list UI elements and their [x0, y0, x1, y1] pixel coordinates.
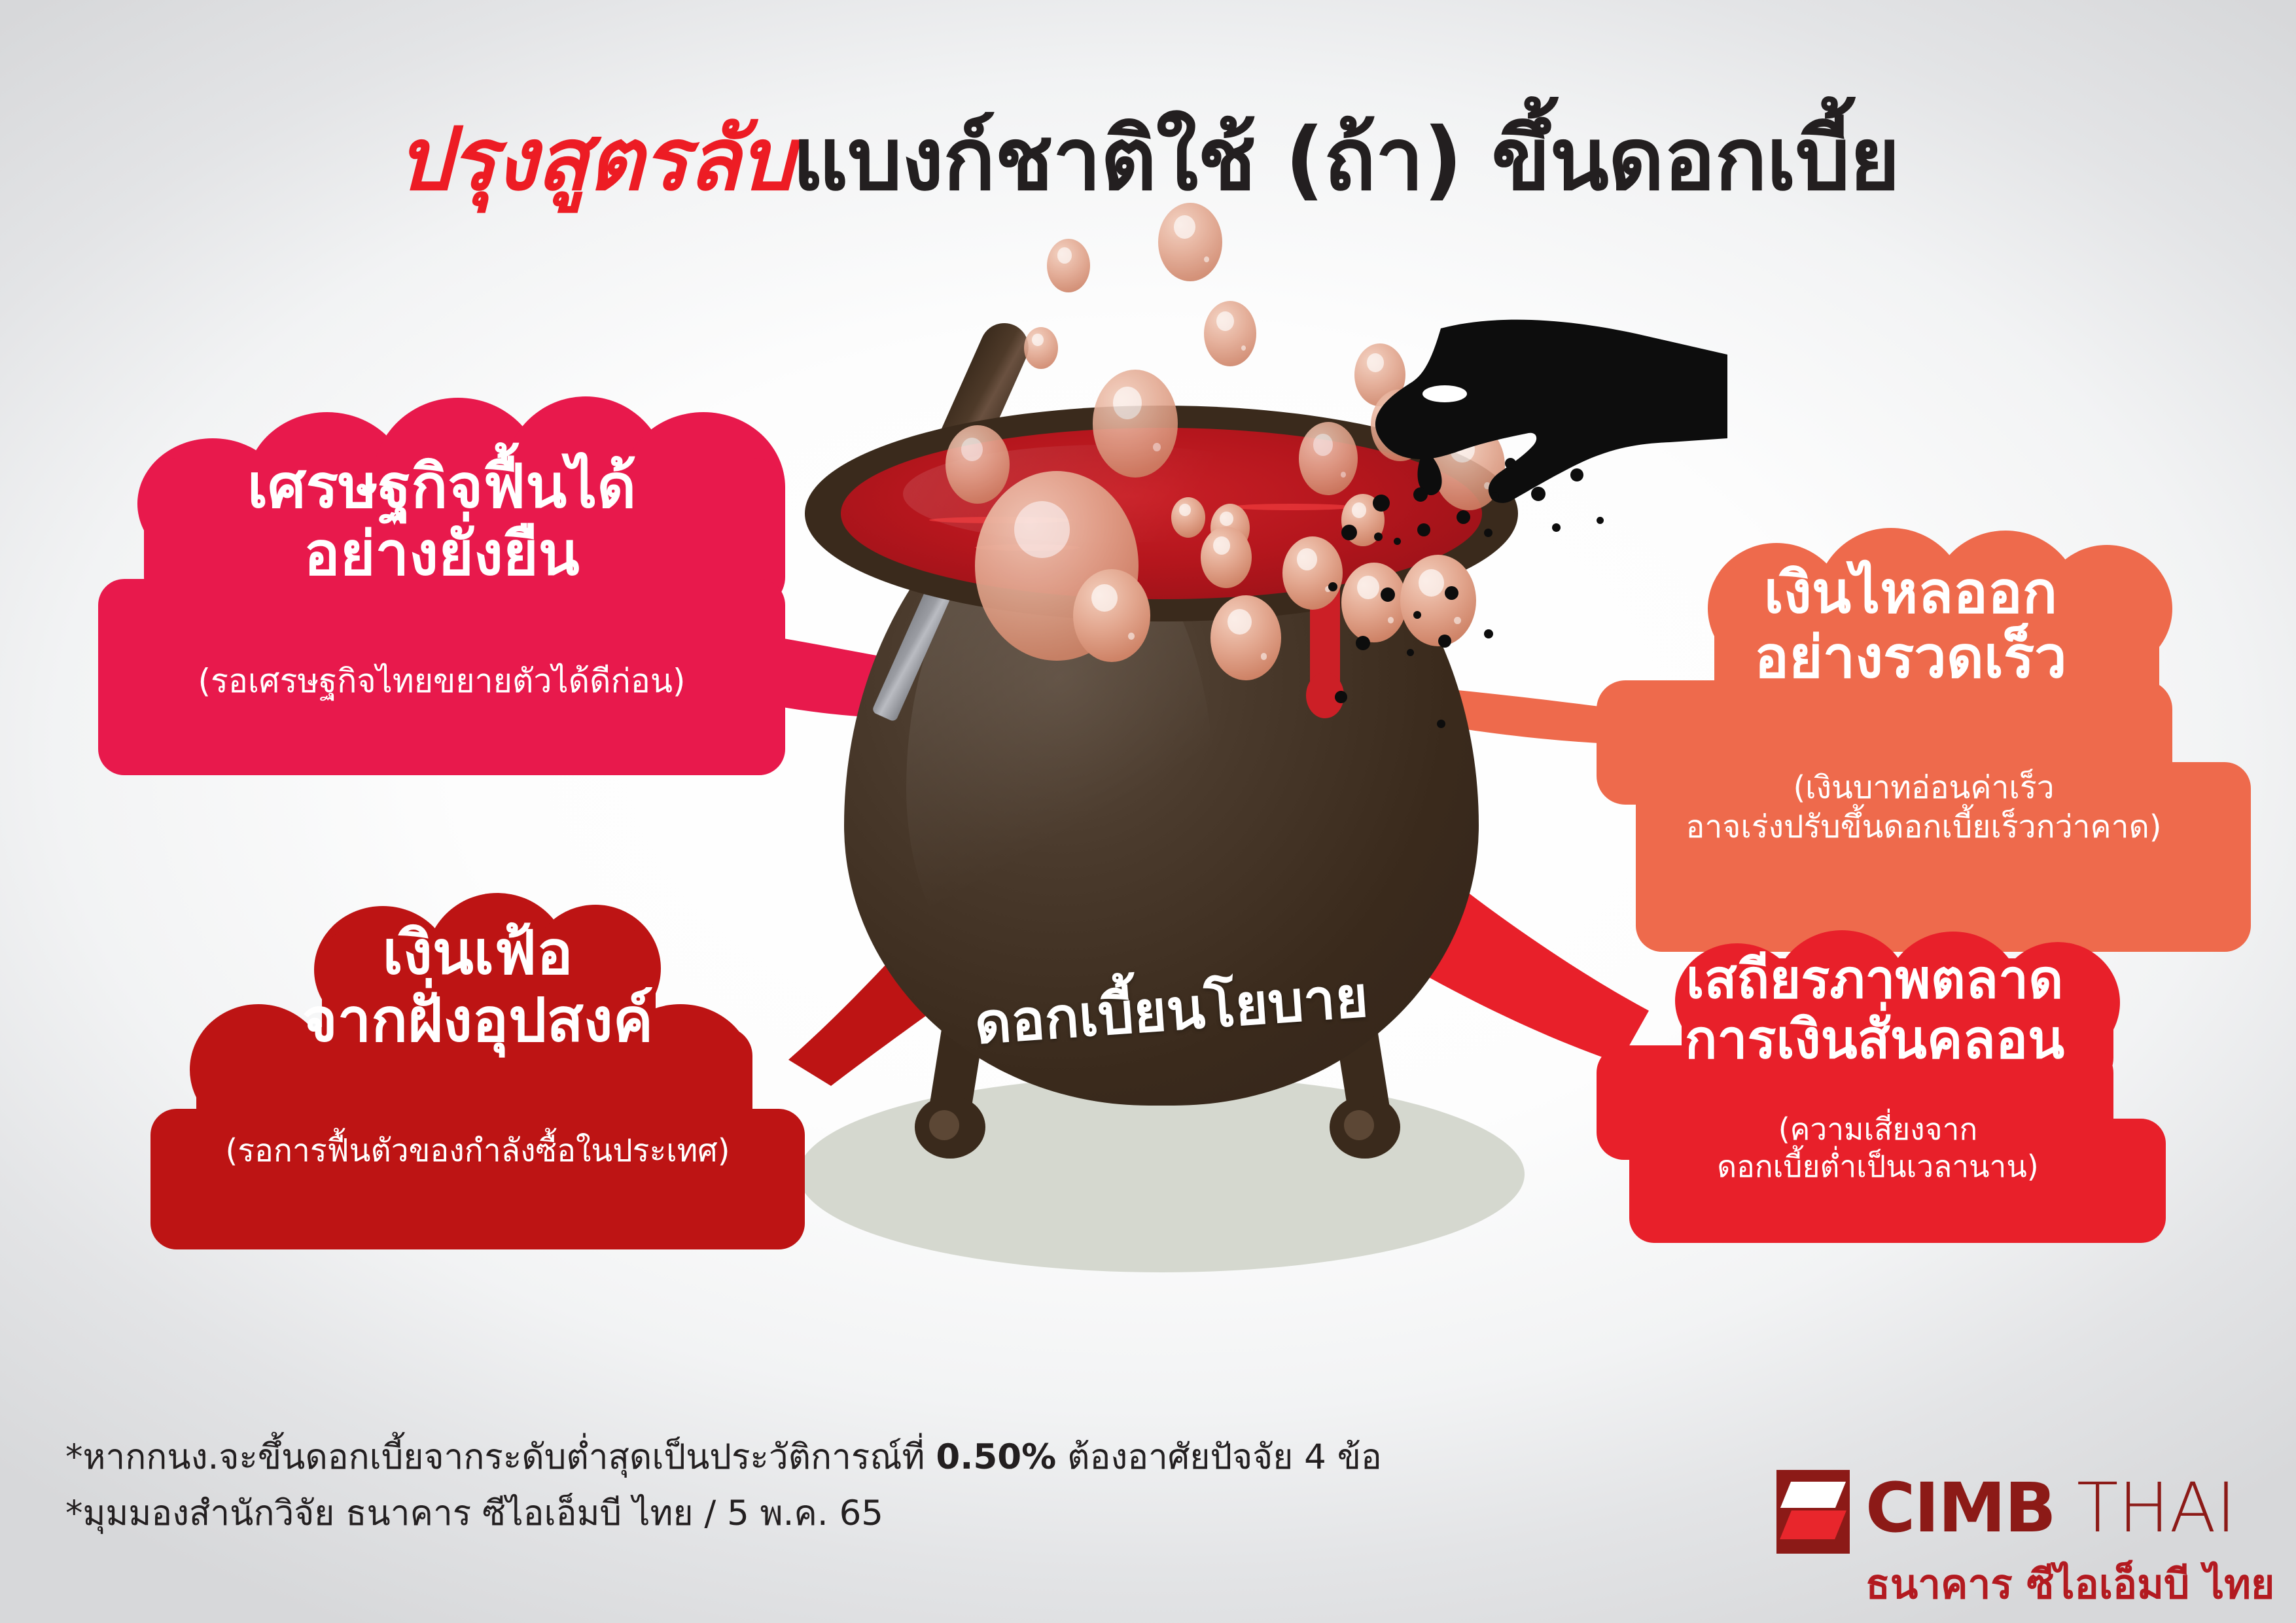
footnotes: *หากกนง.จะขึ้นดอกเบี้ยจากระดับต่ำสุดเป็น…	[65, 1429, 1570, 1542]
headline-line: เศรษฐกิจฟื้นได้	[98, 453, 785, 520]
callout-headline: เงินเฟ้อ จากฝั่งอุปสงค์	[150, 919, 805, 1054]
subtext-line: อาจเร่งปรับขึ้นดอกเบี้ยเร็วกว่าคาด)	[1616, 808, 2231, 847]
footnote-rate: 0.50%	[936, 1437, 1056, 1477]
logo-wordmark: CIMB THAI	[1865, 1474, 2236, 1542]
title-black-part: แบงก์ชาติใช้ (ถ้า) ขึ้นดอกเบี้ย	[792, 109, 1899, 210]
callout-subtext: (รอเศรษฐกิจไทยขยายตัวได้ดีก่อน)	[98, 661, 785, 701]
sprinkling-hand-icon	[1269, 314, 1727, 576]
footnote-line-2: *มุมมองสำนักวิจัย ธนาคาร ซีไอเอ็มบี ไทย …	[65, 1486, 1570, 1542]
callout-subtext: (ความเสี่ยงจาก ดอกเบี้ยต่ำเป็นเวลานาน)	[1610, 1111, 2146, 1185]
footnote-suffix: ต้องอาศัยปัจจัย 4 ข้อ	[1056, 1437, 1382, 1477]
bubble	[1210, 595, 1281, 680]
headline-line: เสถียรภาพตลาด	[1603, 950, 2146, 1010]
callout-subtext: (รอการฟื้นตัวของกำลังซื้อในประเทศ)	[150, 1132, 805, 1171]
pot-foot-left	[915, 1096, 985, 1159]
bubble	[1204, 301, 1256, 366]
bubble	[1201, 527, 1252, 588]
bubble	[945, 425, 1010, 504]
logo-brand-light: THAI	[2055, 1468, 2236, 1548]
subtext-line: (เงินบาทอ่อนค่าเร็ว	[1616, 769, 2231, 808]
page-title: ปรุงสูตรลับแบงก์ชาติใช้ (ถ้า) ขึ้นดอกเบี…	[0, 114, 2296, 205]
subtext-line: (รอเศรษฐกิจไทยขยายตัวได้ดีก่อน)	[98, 661, 785, 701]
footnote-line-1: *หากกนง.จะขึ้นดอกเบี้ยจากระดับต่ำสุดเป็น…	[65, 1429, 1570, 1486]
callout-headline: เงินไหลออก อย่างรวดเร็ว	[1603, 561, 2218, 689]
callout-subtext: (เงินบาทอ่อนค่าเร็ว อาจเร่งปรับขึ้นดอกเบ…	[1616, 769, 2231, 846]
cimb-thai-logo: CIMB THAI ธนาคาร ซีไอเอ็มบี ไทย	[1776, 1469, 2261, 1599]
callout-demand-inflation: เงินเฟ้อ จากฝั่งอุปสงค์ (รอการฟื้นตัวของ…	[150, 893, 831, 1246]
infographic-canvas: ปรุงสูตรลับแบงก์ชาติใช้ (ถ้า) ขึ้นดอกเบี…	[0, 0, 2296, 1623]
pot-shadow	[798, 1076, 1525, 1272]
headline-line: การเงินสั่นคลอน	[1603, 1010, 2146, 1070]
subtext-line: ดอกเบี้ยต่ำเป็นเวลานาน)	[1610, 1148, 2146, 1185]
callout-headline: เสถียรภาพตลาด การเงินสั่นคลอน	[1603, 950, 2146, 1070]
bubble	[1073, 569, 1150, 662]
headline-line: จากฝั่งอุปสงค์	[150, 986, 805, 1054]
logo-brand-bold: CIMB	[1865, 1468, 2055, 1548]
footnote-prefix: *หากกนง.จะขึ้นดอกเบี้ยจากระดับต่ำสุดเป็น…	[65, 1437, 936, 1477]
bubble	[1171, 497, 1205, 538]
bubble	[1158, 203, 1222, 281]
subtext-line: (ความเสี่ยงจาก	[1610, 1111, 2146, 1148]
headline-line: เงินเฟ้อ	[150, 919, 805, 986]
subtext-line: (รอการฟื้นตัวของกำลังซื้อในประเทศ)	[150, 1132, 805, 1171]
title-red-part: ปรุงสูตรลับ	[397, 109, 792, 210]
bubble	[1047, 239, 1090, 292]
callout-headline: เศรษฐกิจฟื้นได้ อย่างยั่งยืน	[98, 453, 785, 587]
callout-economy-recovery: เศรษฐกิจฟื้นได้ อย่างยั่งยืน (รอเศรษฐกิจ…	[98, 419, 824, 811]
headline-line: เงินไหลออก	[1603, 561, 2218, 625]
headline-line: อย่างยั่งยืน	[98, 520, 785, 587]
cimb-logo-mark-icon	[1776, 1470, 1850, 1554]
bubble	[1093, 370, 1178, 478]
pot-foot-right	[1330, 1096, 1400, 1159]
logo-thai-name: ธนาคาร ซีไอเอ็มบี ไทย	[1865, 1552, 2274, 1616]
callout-market-stability: เสถียรภาพตลาด การเงินสั่นคลอน (ความเสี่ย…	[1629, 935, 2290, 1243]
callout-capital-outflow: เงินไหลออก อย่างรวดเร็ว (เงินบาทอ่อนค่าเ…	[1636, 540, 2296, 913]
bubble	[1024, 327, 1058, 369]
headline-line: อย่างรวดเร็ว	[1603, 625, 2218, 690]
